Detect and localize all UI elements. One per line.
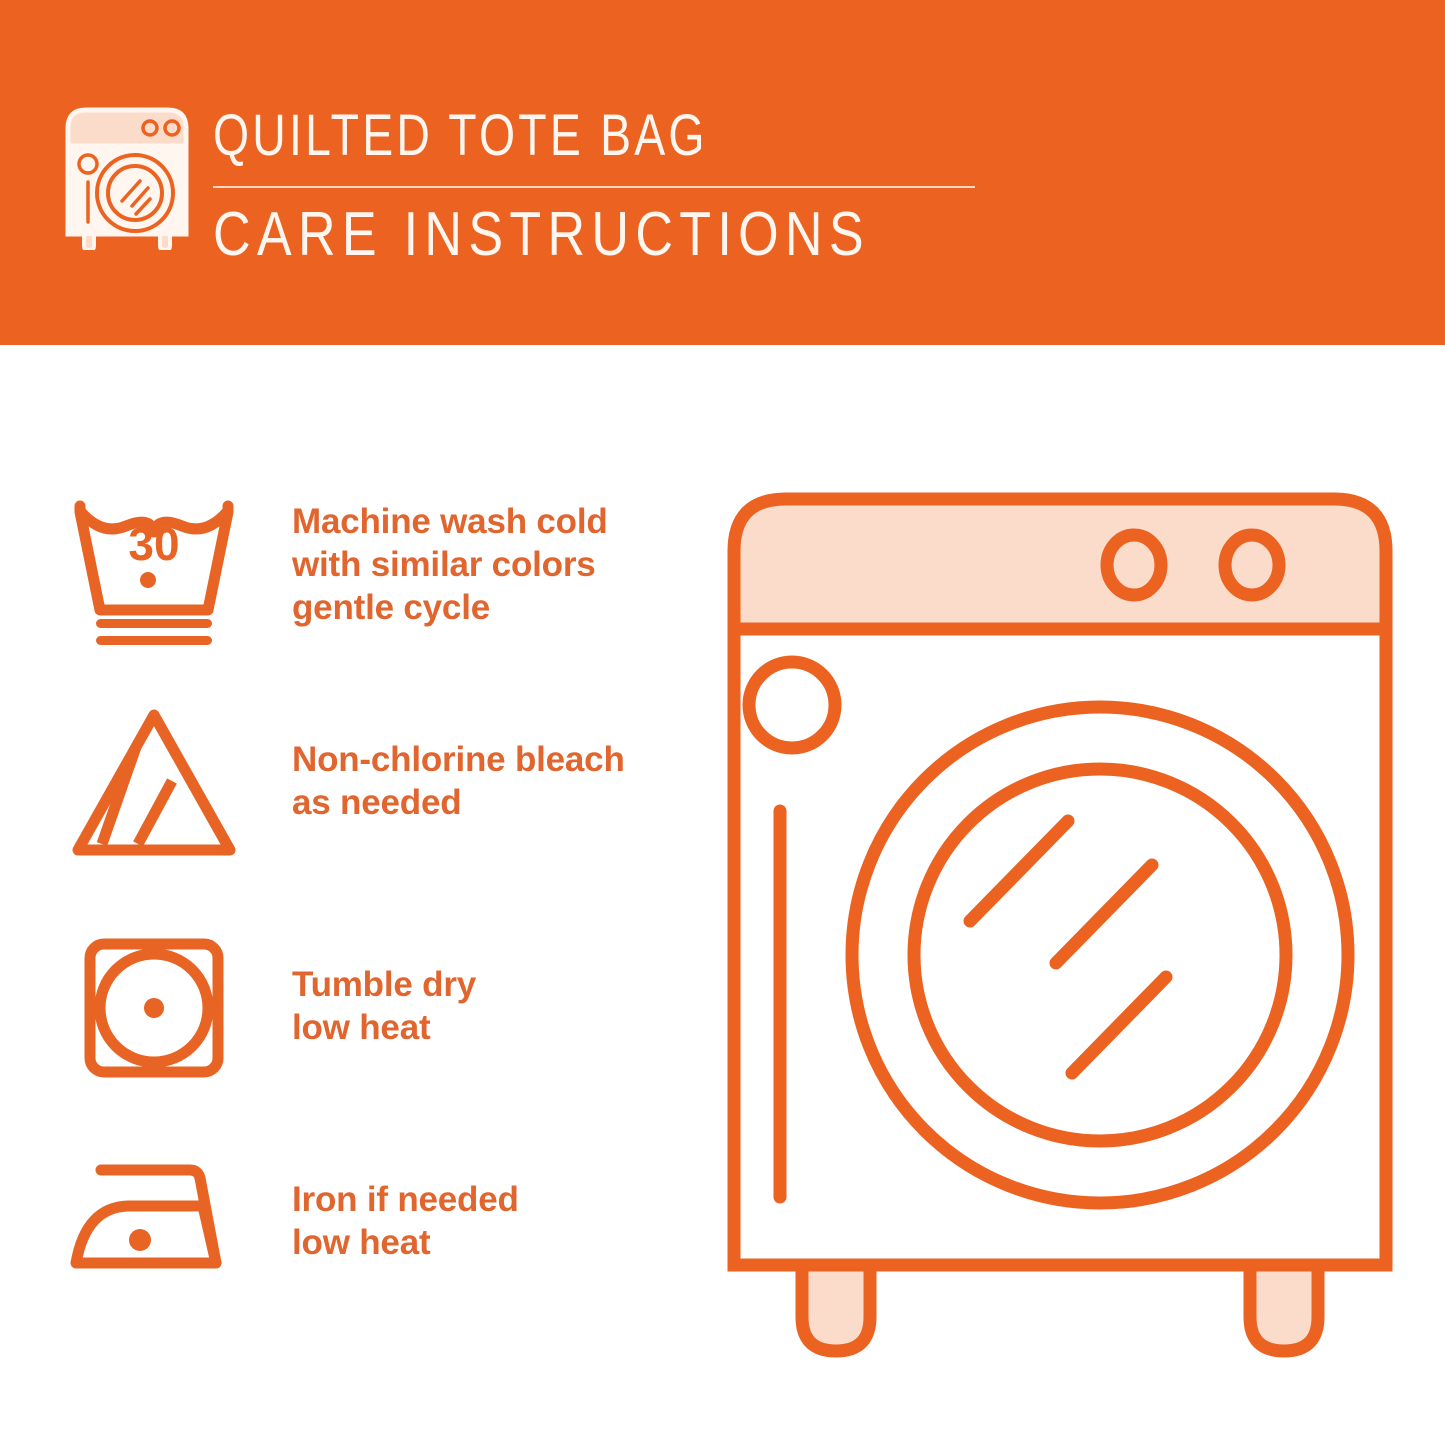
care-line: as needed [292,781,625,824]
care-text-tumble-dry: Tumble dry low heat [292,963,476,1049]
title-divider [213,186,975,188]
care-symbol-list: 30 Machine wash cold with similar colors… [0,345,700,1445]
tumble-dry-low-heat-icon [68,930,240,1090]
care-instructions-infographic: QUILTED TOTE BAG CARE INSTRUCTIONS 30 Ma… [0,0,1445,1445]
control-panel [734,499,1386,629]
machine-leg-left [802,1265,870,1351]
care-line: Tumble dry [292,963,476,1006]
care-line: Non-chlorine bleach [292,738,625,781]
page-subtitle: CARE INSTRUCTIONS [213,200,870,270]
care-line: low heat [292,1221,519,1264]
page-title: QUILTED TOTE BAG [213,104,845,168]
machine-wash-30-gentle-icon: 30 [68,490,240,650]
care-text-iron: Iron if needed low heat [292,1178,519,1264]
non-chlorine-bleach-triangle-icon [68,705,240,865]
washing-machine-illustration [700,455,1420,1395]
header-band: QUILTED TOTE BAG CARE INSTRUCTIONS [0,0,1445,345]
wash-temperature-label: 30 [128,518,179,570]
care-text-bleach: Non-chlorine bleach as needed [292,738,625,824]
header-title-group: QUILTED TOTE BAG CARE INSTRUCTIONS [213,104,1003,168]
care-text-machine-wash: Machine wash cold with similar colors ge… [292,500,608,629]
care-line: with similar colors [292,543,608,586]
machine-leg-right [1250,1265,1318,1351]
iron-low-heat-icon [68,1150,240,1310]
care-line: Iron if needed [292,1178,519,1221]
care-line: Machine wash cold [292,500,608,543]
care-line: low heat [292,1006,476,1049]
care-line: gentle cycle [292,586,608,629]
washing-machine-logo-icon [62,98,192,250]
